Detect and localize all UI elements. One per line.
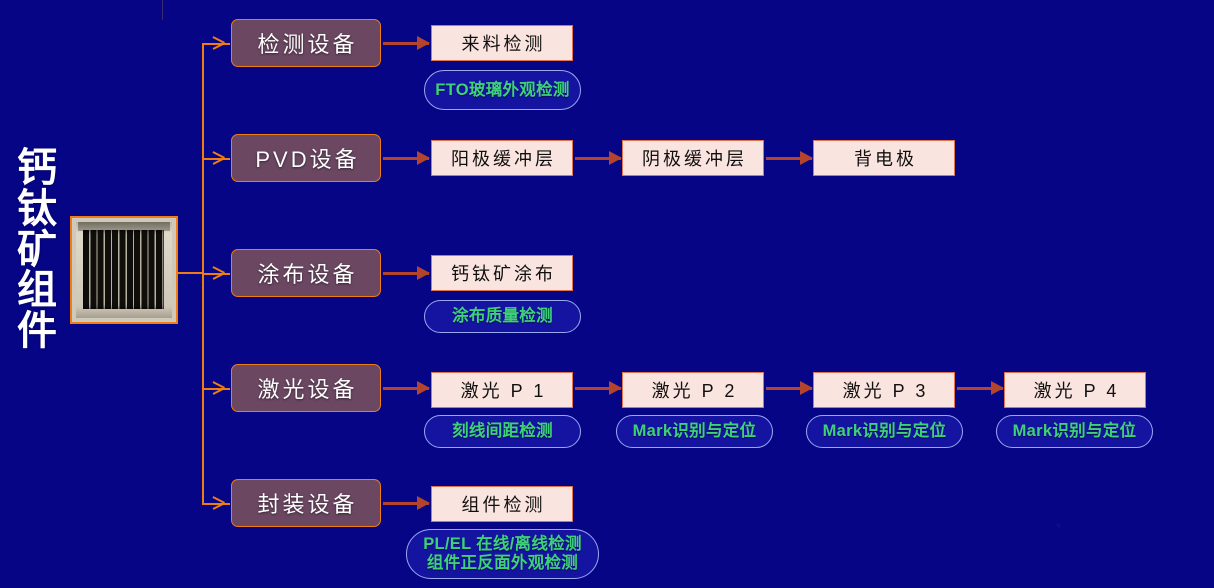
process-label: 阴极缓冲层: [639, 145, 747, 171]
process-arrow-r4-s2: [575, 387, 621, 390]
process-label: 钙钛矿涂布: [448, 260, 556, 286]
process-arrow-r4-s4: [957, 387, 1003, 390]
process-arrow-r4-s1: [383, 387, 429, 390]
process-box-r4-s3[interactable]: 激光 P 3: [813, 372, 955, 408]
page-title: 钙 钛 矿 组 件: [10, 148, 64, 352]
process-box-r2-s3[interactable]: 背电极: [813, 140, 955, 176]
top-artifact-line: [162, 0, 163, 20]
arrow-head-icon: [417, 381, 430, 395]
process-arrow-r2-s1: [383, 157, 429, 160]
inspection-pill-r4-2[interactable]: Mark识别与定位: [616, 415, 773, 448]
arrow-head-icon: [991, 381, 1004, 395]
inspection-pill-r3-1[interactable]: 涂布质量检测: [424, 300, 581, 333]
equipment-box-encapsulation[interactable]: 封装设备: [231, 479, 381, 527]
equipment-label: 检测设备: [254, 27, 357, 59]
equipment-label: 涂布设备: [254, 257, 357, 289]
equipment-box-coating[interactable]: 涂布设备: [231, 249, 381, 297]
process-arrow-r2-s2: [575, 157, 621, 160]
equipment-box-detection[interactable]: 检测设备: [231, 19, 381, 67]
inspection-label: Mark识别与定位: [633, 422, 757, 441]
branch-arrow-3-icon: [213, 265, 227, 281]
process-label: 来料检测: [459, 30, 546, 56]
branch-arrow-4-icon: [213, 380, 227, 396]
process-label: 背电极: [851, 145, 917, 171]
inspection-label-line1: PL/EL 在线/离线检测: [423, 535, 582, 554]
inspection-label-line2: 组件正反面外观检测: [427, 554, 578, 573]
inspection-label: 刻线间距检测: [452, 422, 553, 441]
process-label: 激光 P 4: [1031, 377, 1120, 403]
arrow-head-icon: [609, 381, 622, 395]
inspection-pill-r1-1[interactable]: FTO玻璃外观检测: [424, 70, 581, 110]
process-box-r5-s1[interactable]: 组件检测: [431, 486, 573, 522]
photo-cell-stripes: [83, 230, 164, 309]
process-label: 激光 P 3: [840, 377, 929, 403]
process-label: 激光 P 2: [649, 377, 738, 403]
equipment-box-laser[interactable]: 激光设备: [231, 364, 381, 412]
process-box-r2-s2[interactable]: 阴极缓冲层: [622, 140, 764, 176]
process-arrow-r3-s1: [383, 272, 429, 275]
branch-arrow-2-icon: [213, 150, 227, 166]
process-arrow-r1-s1: [383, 42, 429, 45]
process-box-r4-s1[interactable]: 激光 P 1: [431, 372, 573, 408]
process-box-r1-s1[interactable]: 来料检测: [431, 25, 573, 61]
inspection-label: 涂布质量检测: [452, 307, 553, 326]
inspection-label: Mark识别与定位: [1013, 422, 1137, 441]
arrow-head-icon: [800, 151, 813, 165]
process-label: 阳极缓冲层: [448, 145, 556, 171]
process-arrow-r5-s1: [383, 502, 429, 505]
process-box-r4-s4[interactable]: 激光 P 4: [1004, 372, 1146, 408]
process-box-r3-s1[interactable]: 钙钛矿涂布: [431, 255, 573, 291]
watermark: ·: [0, 0, 1214, 588]
equipment-label: 激光设备: [254, 372, 357, 404]
inspection-pill-r5-1[interactable]: PL/EL 在线/离线检测 组件正反面外观检测: [406, 529, 599, 579]
process-label: 组件检测: [459, 491, 546, 517]
equipment-label: 封装设备: [254, 487, 357, 519]
inspection-pill-r4-4[interactable]: Mark识别与定位: [996, 415, 1153, 448]
equipment-label: PVD设备: [252, 142, 359, 174]
branch-arrow-1-icon: [213, 35, 227, 51]
equipment-box-pvd[interactable]: PVD设备: [231, 134, 381, 182]
inspection-label: FTO玻璃外观检测: [435, 81, 569, 100]
arrow-head-icon: [417, 36, 430, 50]
inspection-pill-r4-1[interactable]: 刻线间距检测: [424, 415, 581, 448]
arrow-head-icon: [417, 266, 430, 280]
perovskite-module-photo: [70, 216, 178, 324]
process-arrow-r2-s3: [766, 157, 812, 160]
arrow-head-icon: [609, 151, 622, 165]
arrow-head-icon: [417, 151, 430, 165]
branch-arrow-5-icon: [213, 495, 227, 511]
diagram-canvas: 钙 钛 矿 组 件 检测设备 来料检测 FTO玻璃外观检测 PVD设备 阳极缓冲…: [0, 0, 1214, 588]
process-box-r4-s2[interactable]: 激光 P 2: [622, 372, 764, 408]
inspection-pill-r4-3[interactable]: Mark识别与定位: [806, 415, 963, 448]
process-label: 激光 P 1: [458, 377, 547, 403]
arrow-head-icon: [417, 496, 430, 510]
process-box-r2-s1[interactable]: 阳极缓冲层: [431, 140, 573, 176]
inspection-label: Mark识别与定位: [823, 422, 947, 441]
trunk-stub: [178, 272, 204, 274]
arrow-head-icon: [800, 381, 813, 395]
process-arrow-r4-s3: [766, 387, 812, 390]
